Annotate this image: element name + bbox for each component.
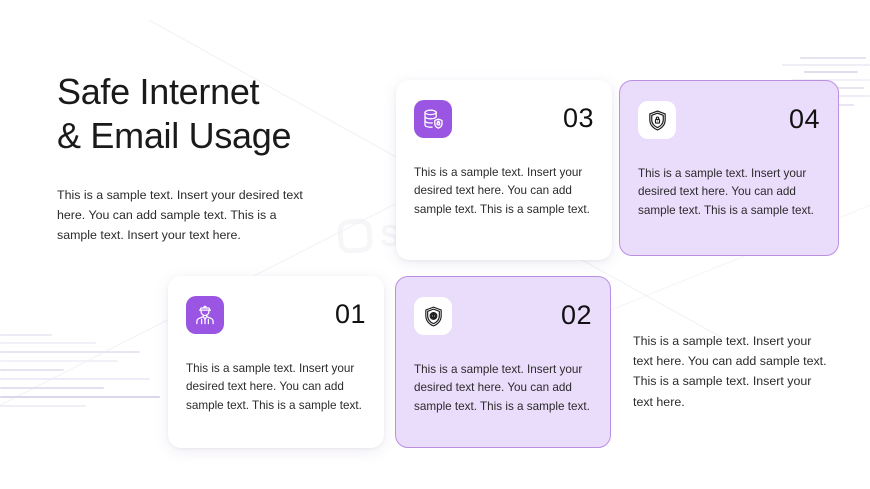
card-04[interactable]: 04 This is a sample text. Insert your de…	[619, 80, 839, 256]
database-shield-lock-icon	[421, 107, 445, 131]
card-02[interactable]: 02 This is a sample text. Insert your de…	[395, 276, 611, 448]
icon-tile-04	[638, 101, 676, 139]
card-number-01: 01	[335, 296, 366, 328]
card-body-04: This is a sample text. Insert your desir…	[638, 165, 820, 220]
card-body-03: This is a sample text. Insert your desir…	[414, 164, 594, 219]
title-line-2: & Email Usage	[57, 114, 377, 158]
card-03[interactable]: 03 This is a sample text. Insert your de…	[396, 80, 612, 260]
shield-badge-icon	[422, 305, 445, 328]
card-number-03: 03	[563, 100, 594, 132]
card-body-02: This is a sample text. Insert your desir…	[414, 361, 592, 416]
side-paragraph: This is a sample text. Insert your text …	[633, 331, 828, 412]
card-body-01: This is a sample text. Insert your desir…	[186, 360, 366, 415]
icon-tile-03	[414, 100, 452, 138]
intro-paragraph: This is a sample text. Insert your desir…	[57, 185, 317, 245]
card-number-04: 04	[789, 101, 820, 133]
slidemodel-logo-icon	[337, 218, 373, 254]
page-title: Safe Internet & Email Usage	[57, 70, 377, 158]
shield-lock-icon	[646, 109, 669, 132]
security-officer-icon	[193, 303, 217, 327]
card-01[interactable]: 01 This is a sample text. Insert your de…	[168, 276, 384, 448]
decor-speedlines-bottom-left	[0, 334, 175, 419]
title-line-1: Safe Internet	[57, 70, 377, 114]
card-number-02: 02	[561, 297, 592, 329]
icon-tile-02	[414, 297, 452, 335]
icon-tile-01	[186, 296, 224, 334]
